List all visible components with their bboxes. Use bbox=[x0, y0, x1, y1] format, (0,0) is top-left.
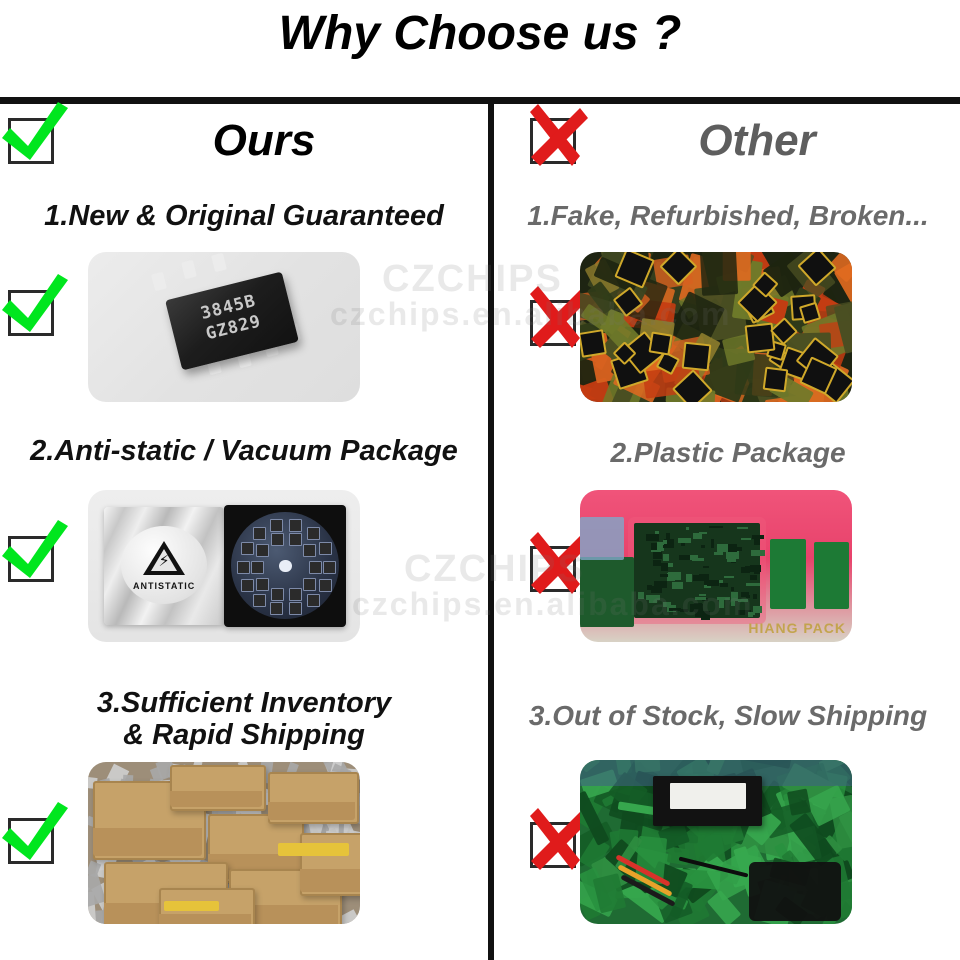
check-mark-icon bbox=[0, 268, 72, 348]
column-header-other-label: Other bbox=[638, 116, 815, 166]
antistatic-bag: ⚡ ANTISTATIC bbox=[104, 507, 224, 626]
row-2-ours-image: ⚡ ANTISTATIC bbox=[88, 490, 360, 642]
cross-icon-row-2 bbox=[530, 546, 576, 592]
row-2-other-image: HIANG PACK bbox=[580, 490, 852, 642]
check-mark-icon bbox=[0, 796, 72, 876]
row-3-other-image bbox=[580, 760, 852, 924]
row-1-other-text: 1.Fake, Refurbished, Broken... bbox=[496, 200, 960, 231]
page-title: Why Choose us ? bbox=[0, 6, 960, 61]
row-3-ours-text: 3.Sufficient Inventory & Rapid Shipping bbox=[0, 687, 488, 752]
column-header-ours: Ours bbox=[0, 106, 488, 176]
cross-icon-row-3 bbox=[530, 822, 576, 868]
header-divider bbox=[0, 97, 960, 104]
cross-icon-row-1 bbox=[530, 300, 576, 346]
component-tray bbox=[224, 505, 346, 627]
row-3-ours-text-line-2: & Rapid Shipping bbox=[0, 719, 488, 751]
row-3-ours-text-line-1: 3.Sufficient Inventory bbox=[0, 687, 488, 719]
antistatic-label-disc: ⚡ ANTISTATIC bbox=[121, 526, 207, 604]
row-1-other-image bbox=[580, 252, 852, 402]
tape-reel bbox=[231, 512, 339, 619]
check-icon-row-2 bbox=[8, 536, 54, 582]
column-header-other: Other bbox=[494, 106, 960, 176]
lightning-bolt-icon: ⚡ bbox=[159, 554, 170, 570]
why-choose-us-banner: Why Choose us ? Ours Other 1.New & Origi… bbox=[0, 0, 960, 960]
row-1-ours-text: 1.New & Original Guaranteed bbox=[0, 200, 488, 232]
row-3-other-text: 3.Out of Stock, Slow Shipping bbox=[496, 700, 960, 731]
row-1-ours-image: 3845B GZ829 bbox=[88, 252, 360, 402]
check-mark-icon bbox=[0, 514, 72, 594]
row-2-other-image-watermark: HIANG PACK bbox=[748, 620, 846, 636]
antistatic-label-text: ANTISTATIC bbox=[121, 581, 207, 591]
check-icon-row-1 bbox=[8, 290, 54, 336]
column-divider bbox=[488, 104, 494, 960]
row-2-ours-text: 2.Anti-static / Vacuum Package bbox=[0, 435, 488, 467]
check-icon-row-3 bbox=[8, 818, 54, 864]
row-3-ours-image bbox=[88, 762, 360, 924]
column-header-ours-label: Ours bbox=[173, 116, 316, 166]
row-2-other-text: 2.Plastic Package bbox=[496, 437, 960, 468]
